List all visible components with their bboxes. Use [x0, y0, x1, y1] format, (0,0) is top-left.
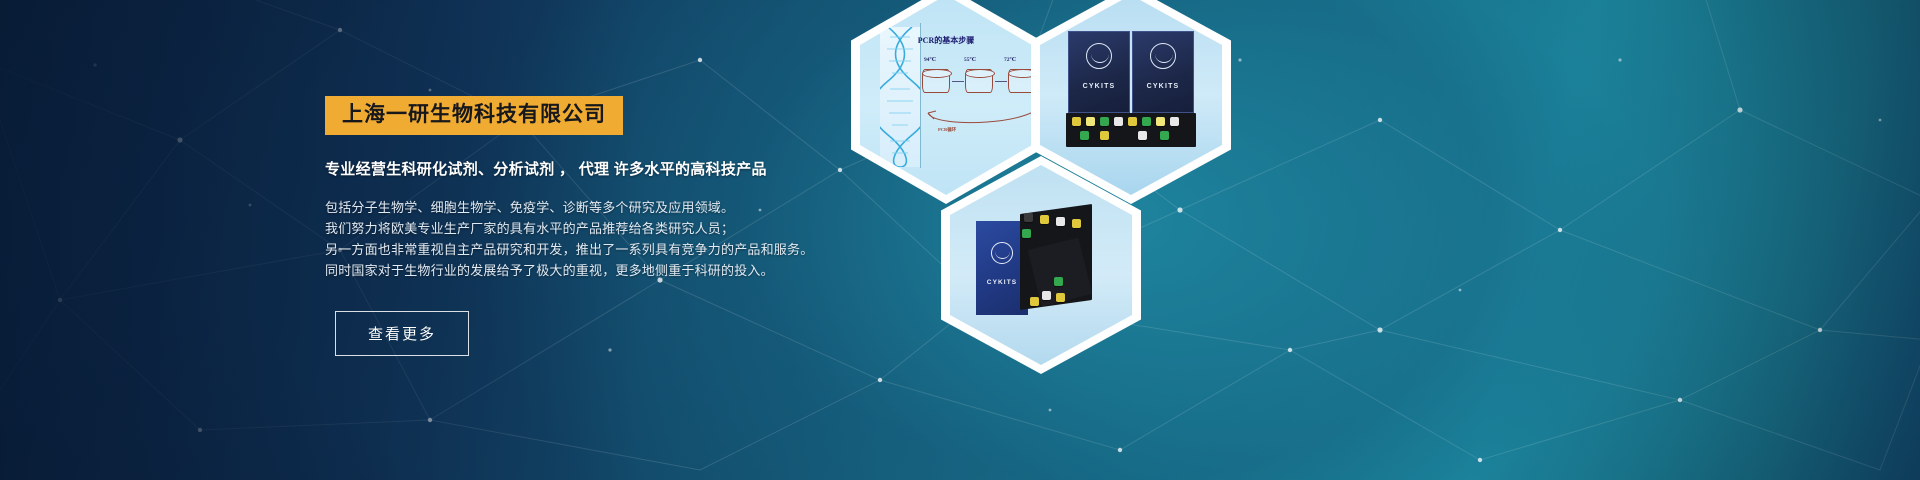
sample-vial: [1080, 131, 1089, 140]
sample-vial: [1072, 117, 1081, 126]
sample-vial: [1024, 213, 1033, 222]
description-line: 我们努力将欧美专业生产厂家的具有水平的产品推荐给各类研究人员；: [325, 218, 845, 239]
pcr-temp-label: 94℃: [924, 57, 936, 63]
kit-box: CYKITS: [1068, 31, 1130, 113]
company-title-badge: 上海一研生物科技有限公司: [325, 96, 623, 135]
kit-box: CYKITS: [1132, 31, 1194, 113]
product-brand-label: CYKITS: [987, 279, 1017, 286]
pcr-cycle-label: PCR循环: [938, 127, 956, 133]
banner-subtitle: 专业经营生科研化试剂、分析试剂 ， 代理 许多水平的高科技产品: [325, 158, 845, 179]
hex-kit-boxes-image: CYKITS CYKITS: [1040, 0, 1222, 195]
sample-vial: [1100, 117, 1109, 126]
pcr-tube: [965, 69, 993, 93]
description-line: 另一方面也非常重视自主产品研究和开发，推出了一系列具有竞争力的产品和服务。: [325, 239, 845, 260]
sample-vial: [1114, 117, 1123, 126]
sample-vial: [1056, 293, 1065, 302]
banner-description: 包括分子生物学、细胞生物学、免疫学、诊断等多个研究及应用领域。 我们努力将欧美专…: [325, 197, 845, 281]
pcr-tube: [1008, 69, 1032, 93]
sample-vial: [1156, 117, 1165, 126]
sample-vial: [1138, 131, 1147, 140]
banner-text-block: 上海一研生物科技有限公司 专业经营生科研化试剂、分析试剂 ， 代理 许多水平的高…: [325, 96, 845, 356]
sample-vial: [1054, 277, 1063, 286]
kit-brand-label: CYKITS: [1147, 83, 1180, 90]
sample-vial: [1142, 117, 1151, 126]
cykits-logo-icon: [1150, 43, 1176, 69]
sample-vial: [1086, 117, 1095, 126]
sample-vial: [1170, 117, 1179, 126]
hex-product-box-image: CYKITS: [950, 165, 1132, 365]
description-line: 同时国家对于生物行业的发展给予了极大的重视，更多地侧重于科研的投入。: [325, 260, 845, 281]
sample-vial: [1040, 215, 1049, 224]
sample-vial: [1056, 217, 1065, 226]
sample-vial: [1160, 131, 1169, 140]
kit-brand-label: CYKITS: [1083, 83, 1116, 90]
hex-pcr-image: PCR的基本步骤 94℃ 55℃ 72℃ P: [860, 0, 1032, 195]
cykits-logo-icon: [991, 242, 1013, 264]
description-line: 包括分子生物学、细胞生物学、免疫学、诊断等多个研究及应用领域。: [325, 197, 845, 218]
sample-vial: [1030, 297, 1039, 306]
pcr-cycle-arrow: [918, 99, 1032, 133]
hexagon-image-cluster: PCR的基本步骤 94℃ 55℃ 72℃ P: [845, 0, 1265, 480]
pcr-slide-title: PCR的基本步骤: [918, 35, 974, 46]
sample-vial: [1072, 219, 1081, 228]
sample-vial: [1128, 117, 1137, 126]
sample-vial: [1100, 131, 1109, 140]
pcr-tube: [922, 69, 950, 93]
hero-banner: 上海一研生物科技有限公司 专业经营生科研化试剂、分析试剂 ， 代理 许多水平的高…: [0, 0, 1920, 480]
cykits-logo-icon: [1086, 43, 1112, 69]
sample-vial: [1022, 229, 1031, 238]
sample-vial: [1042, 291, 1051, 300]
view-more-button[interactable]: 查看更多: [335, 311, 469, 356]
pcr-temp-label: 72℃: [1004, 57, 1016, 63]
pcr-temp-label: 55℃: [964, 57, 976, 63]
dna-helix-icon: [880, 27, 920, 167]
